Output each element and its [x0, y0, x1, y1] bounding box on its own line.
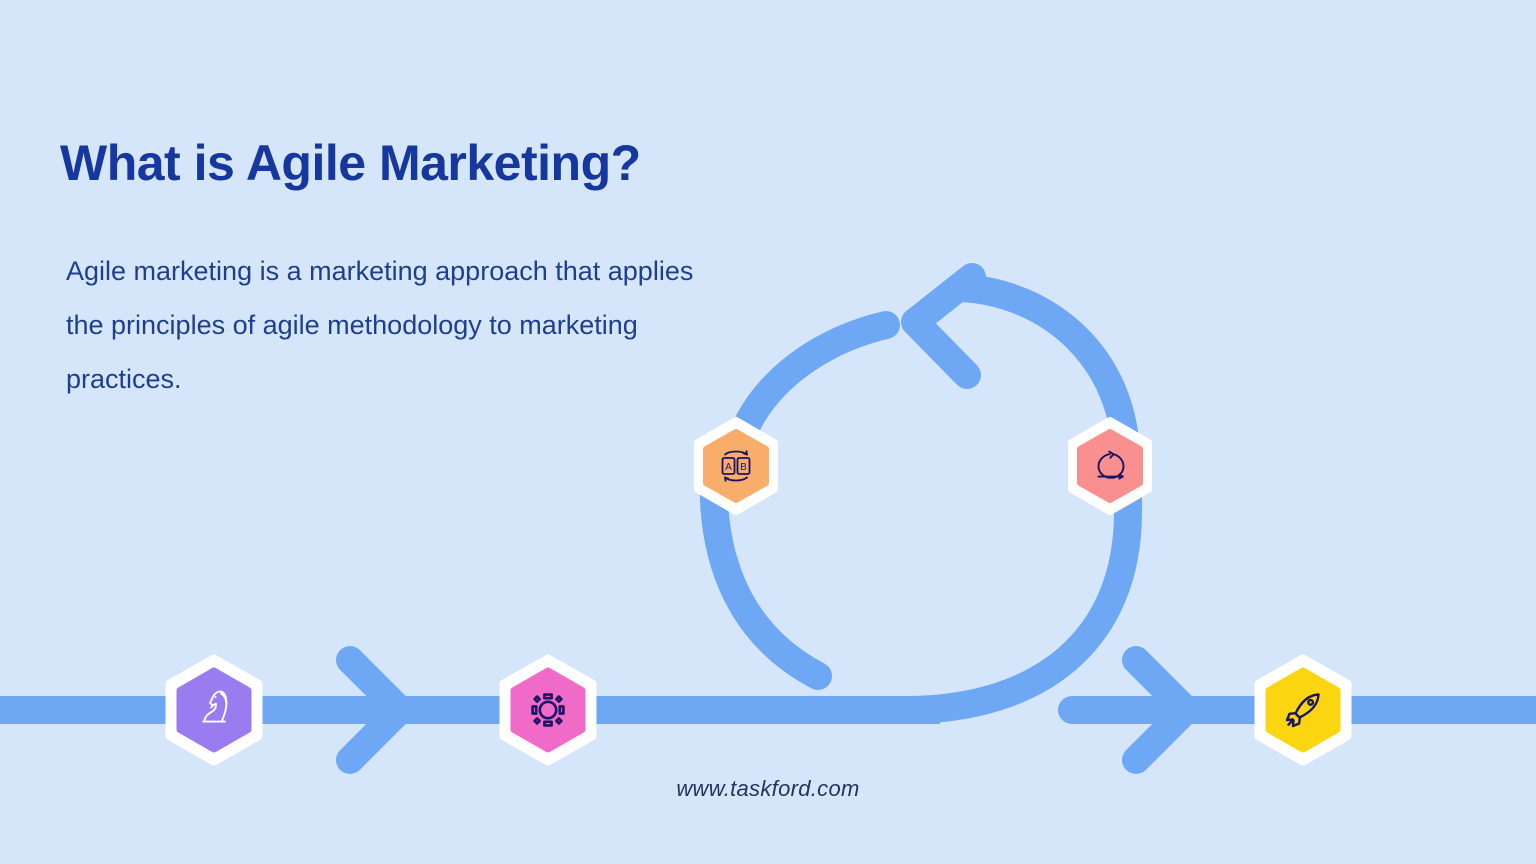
node-strategy[interactable] [166, 657, 262, 763]
hex-fill-coral [1080, 432, 1140, 500]
svg-text:A: A [725, 462, 732, 473]
page-title: What is Agile Marketing? [60, 134, 641, 192]
hex-fill-orange [706, 432, 766, 500]
node-ab-testing[interactable]: A B [694, 419, 778, 513]
node-launch[interactable] [1255, 657, 1351, 763]
node-process[interactable] [500, 657, 596, 763]
slide-canvas: A B [0, 0, 1536, 864]
hex-fill-pink [514, 671, 582, 749]
hex-fill-yellow [1269, 671, 1337, 749]
body-paragraph: Agile marketing is a marketing approach … [66, 244, 706, 406]
svg-text:B: B [740, 462, 747, 473]
footer-url: www.taskford.com [0, 776, 1536, 802]
loop-arrowhead [915, 277, 972, 375]
node-sprint[interactable] [1068, 419, 1152, 513]
